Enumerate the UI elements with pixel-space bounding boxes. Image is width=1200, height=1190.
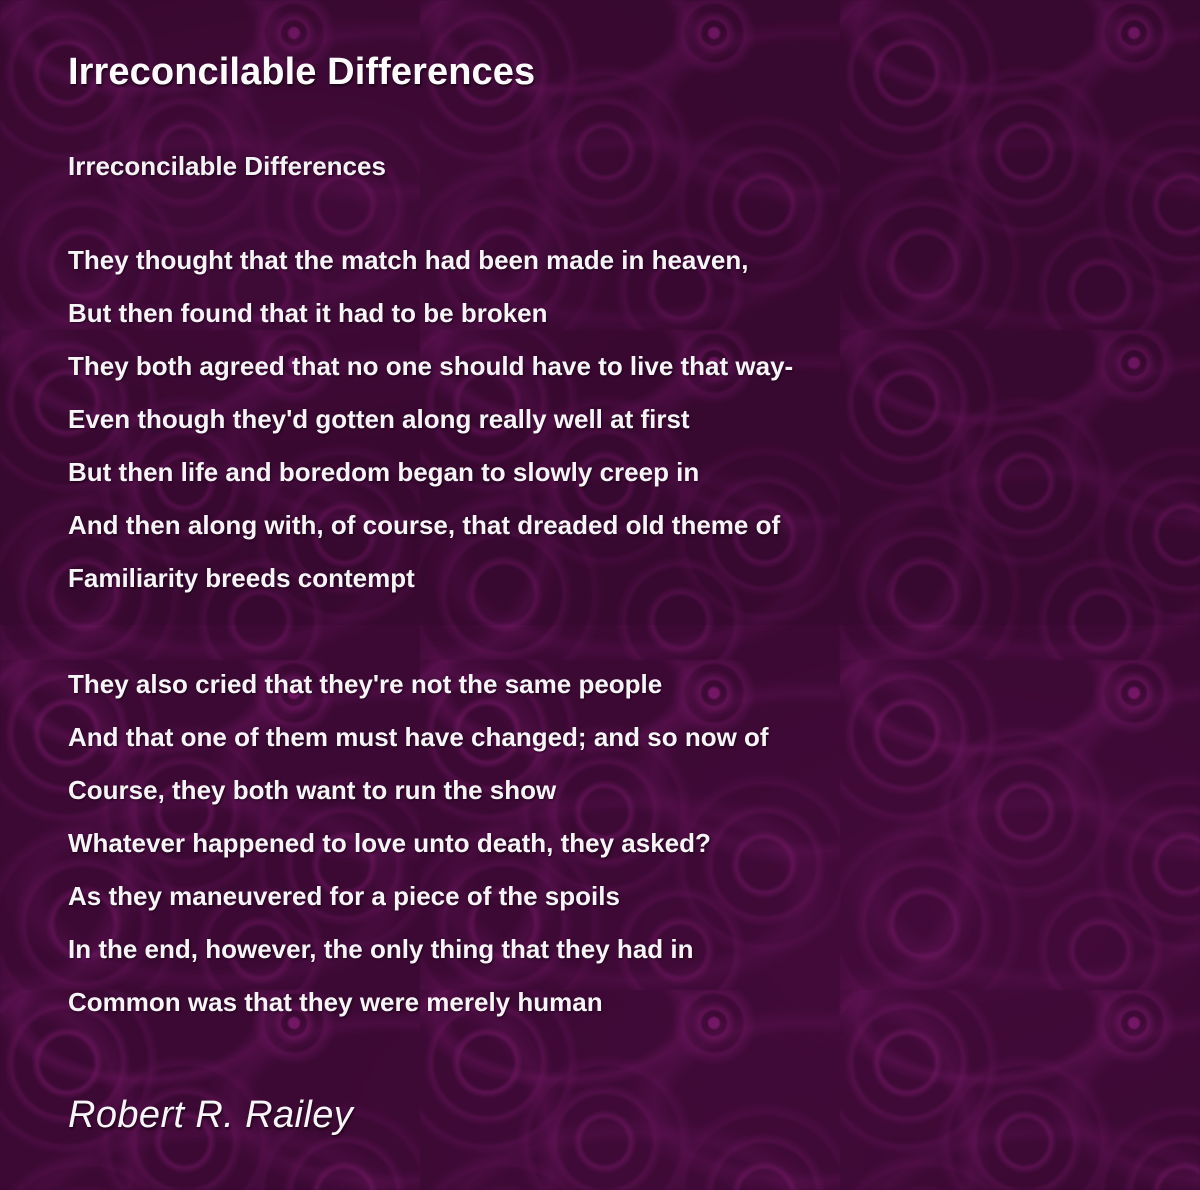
poem-line: They also cried that they're not the sam…	[68, 658, 1200, 711]
poem-stanza-1: They thought that the match had been mad…	[68, 234, 1200, 605]
poem-subtitle: Irreconcilable Differences	[68, 150, 1200, 183]
poem-line: But then found that it had to be broken	[68, 287, 1200, 340]
poem-line: And then along with, of course, that dre…	[68, 499, 1200, 552]
poem-line: Common was that they were merely human	[68, 976, 1200, 1029]
poem-line: As they maneuvered for a piece of the sp…	[68, 870, 1200, 923]
poem-line: But then life and boredom began to slowl…	[68, 446, 1200, 499]
poem-body: They thought that the match had been mad…	[68, 234, 1200, 1029]
page-title: Irreconcilable Differences	[68, 52, 1200, 94]
poem-line: They both agreed that no one should have…	[68, 340, 1200, 393]
poem-line: Familiarity breeds contempt	[68, 552, 1200, 605]
poem-content: Irreconcilable Differences Irreconcilabl…	[0, 0, 1200, 1137]
poem-author: Robert R. Railey	[68, 1095, 1200, 1137]
poem-stanza-2: They also cried that they're not the sam…	[68, 658, 1200, 1029]
poem-line: In the end, however, the only thing that…	[68, 923, 1200, 976]
poem-line: Even though they'd gotten along really w…	[68, 393, 1200, 446]
poem-line: Course, they both want to run the show	[68, 764, 1200, 817]
poem-card: Irreconcilable Differences Irreconcilabl…	[0, 0, 1200, 1190]
poem-line: And that one of them must have changed; …	[68, 711, 1200, 764]
poem-line: Whatever happened to love unto death, th…	[68, 817, 1200, 870]
poem-line: They thought that the match had been mad…	[68, 234, 1200, 287]
